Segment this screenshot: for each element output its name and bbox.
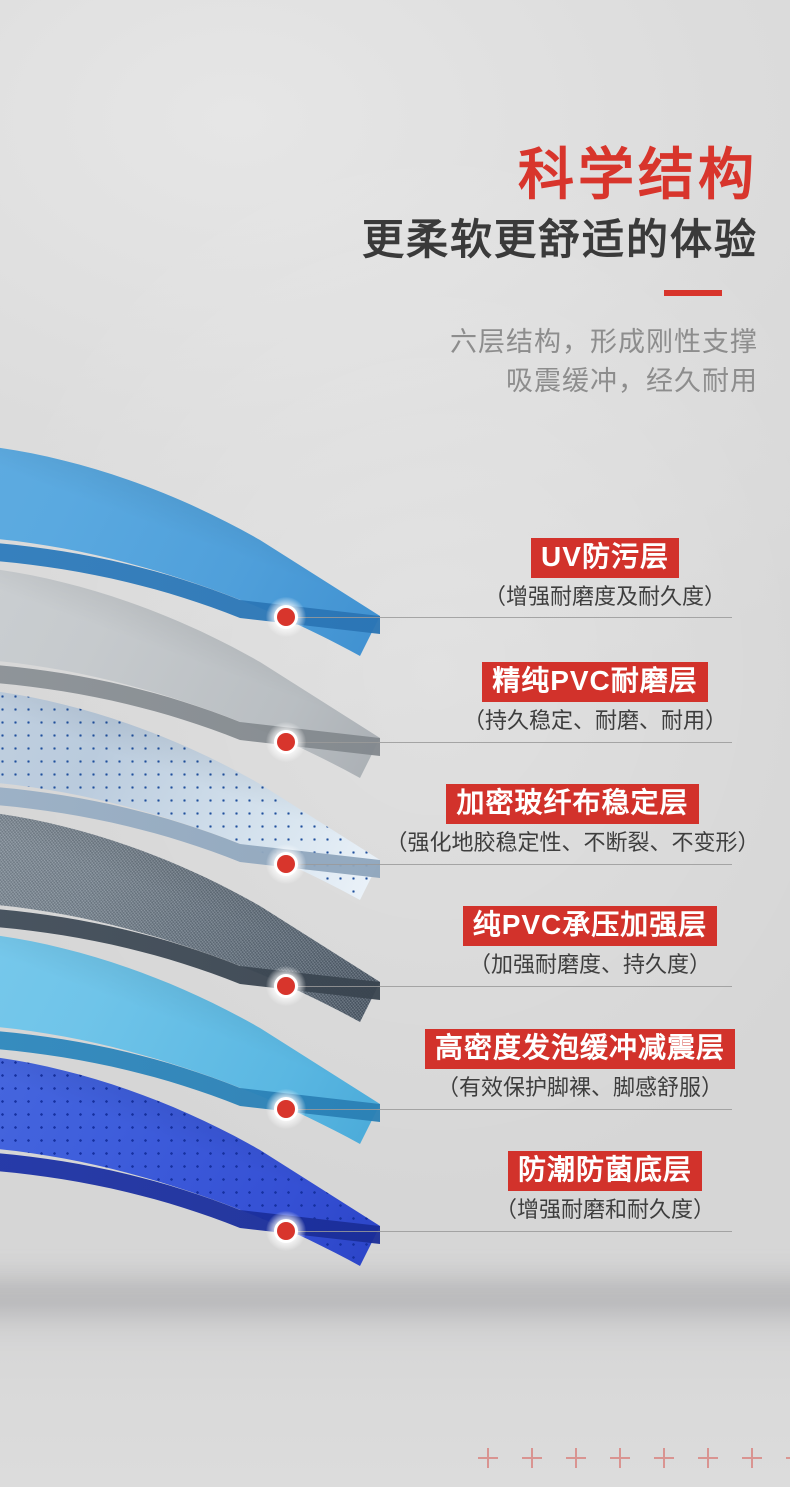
layer-label-2: 精纯PVC耐磨层 （持久稳定、耐磨、耐用） [420,662,770,735]
layer-label-5: 高密度发泡缓冲减震层 （有效保护脚裸、脚感舒服） [390,1029,770,1102]
marker-dot-layer-2 [277,733,295,751]
marker-dot-layer-3 [277,855,295,873]
layer-caption-2: （持久稳定、耐磨、耐用） [420,708,770,734]
leader-line-5 [292,1109,732,1110]
layer-label-4: 纯PVC承压加强层 （加强耐磨度、持久度） [410,906,770,979]
leader-line-1 [292,617,732,618]
plus-mark-icon [610,1448,630,1468]
plus-mark-icon [654,1448,674,1468]
leader-line-3 [292,864,732,865]
page-subtitle: 更柔软更舒适的体验 [238,215,758,265]
leader-line-2 [292,742,732,743]
layer-name-badge-2: 精纯PVC耐磨层 [482,662,708,702]
plus-mark-icon [698,1448,718,1468]
layer-name-badge-5: 高密度发泡缓冲减震层 [425,1029,735,1069]
layer-name-badge-4: 纯PVC承压加强层 [463,906,718,946]
layer-stack-illustration [0,420,400,1320]
layer-name-badge-3: 加密玻纤布稳定层 [446,784,698,824]
layer-label-3: 加密玻纤布稳定层 （强化地胶稳定性、不断裂、不变形） [375,784,770,857]
plus-mark-icon [478,1448,498,1468]
description-line-1: 六层结构，形成刚性支撑 [238,323,758,361]
page-title: 科学结构 [238,146,758,205]
layer-label-6: 防潮防菌底层 （增强耐磨和耐久度） [440,1151,770,1224]
plus-mark-icon [522,1448,542,1468]
marker-dot-layer-6 [277,1222,295,1240]
sheet-layer-6-antibacterial-base [0,1030,380,1280]
marker-dot-layer-1 [277,608,295,626]
layer-caption-3: （强化地胶稳定性、不断裂、不变形） [375,830,770,856]
layer-caption-6: （增强耐磨和耐久度） [440,1197,770,1223]
marker-dot-layer-4 [277,977,295,995]
layer-label-1: UV防污层 （增强耐磨度及耐久度） [440,538,770,611]
plus-mark-icon [566,1448,586,1468]
marker-dot-layer-5 [277,1100,295,1118]
title-divider-rule [664,290,722,296]
layer-caption-1: （增强耐磨度及耐久度） [440,584,770,610]
layer-name-badge-1: UV防污层 [531,538,679,578]
plus-mark-icon [742,1448,762,1468]
plus-mark-row [478,1448,790,1468]
leader-line-6 [292,1231,732,1232]
leader-line-4 [292,986,732,987]
header-block: 科学结构 更柔软更舒适的体验 六层结构，形成刚性支撑 吸震缓冲，经久耐用 [238,146,758,400]
description-block: 六层结构，形成刚性支撑 吸震缓冲，经久耐用 [238,323,758,400]
layer-caption-4: （加强耐磨度、持久度） [410,952,770,978]
plus-mark-icon [786,1448,790,1468]
description-line-2: 吸震缓冲，经久耐用 [238,362,758,400]
layer-caption-5: （有效保护脚裸、脚感舒服） [390,1075,770,1101]
layer-name-badge-6: 防潮防菌底层 [508,1151,702,1191]
product-infographic-page: 科学结构 更柔软更舒适的体验 六层结构，形成刚性支撑 吸震缓冲，经久耐用 UV防… [0,0,790,1487]
